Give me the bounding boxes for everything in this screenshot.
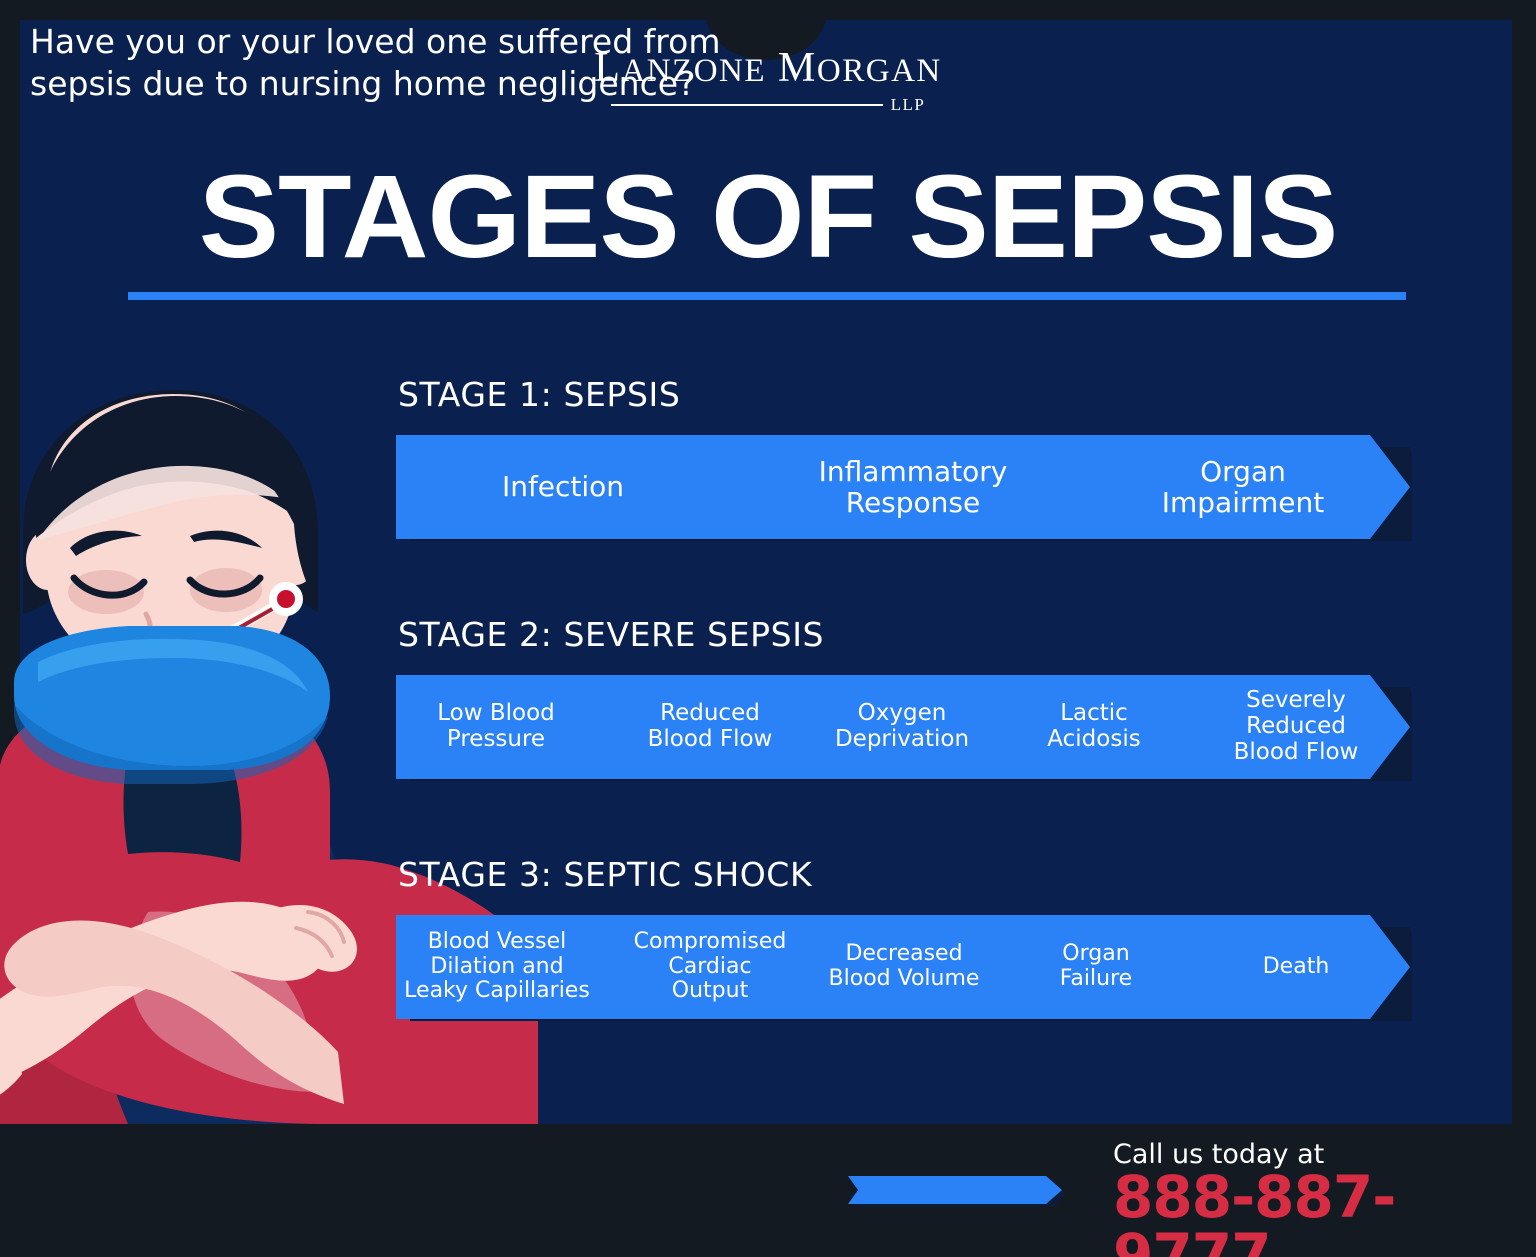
stage-3-block: STAGE 3: SEPTIC SHOCK — [396, 858, 1412, 1021]
stage-2-heading: STAGE 2: SEVERE SEPSIS — [398, 618, 1412, 651]
footer-question-line-1: Have you or your loved one suffered from — [30, 21, 820, 63]
brand-suffix: LLP — [891, 96, 926, 113]
stage-3-flow: Blood Vessel Dilation and Leaky Capillar… — [396, 913, 1412, 1021]
title-underline-bar — [128, 292, 1406, 300]
stage-2-block: STAGE 2: SEVERE SEPSIS — [396, 618, 1412, 781]
footer-arrow-icon — [848, 1174, 1064, 1206]
brand-name-organ: ORGAN — [817, 53, 942, 89]
footer-question-line-2: sepsis due to nursing home negligence? — [30, 63, 820, 105]
footer-question: Have you or your loved one suffered from… — [30, 21, 820, 105]
stage-3-heading: STAGE 3: SEPTIC SHOCK — [398, 858, 1412, 891]
stage-1-block: STAGE 1: SEPSIS Infection — [396, 378, 1412, 541]
stage-1-flow: Infection Inflammatory Response Organ Im… — [396, 433, 1412, 541]
stage-2-flow: Low Blood Pressure Reduced Blood Flow Ox… — [396, 673, 1412, 781]
stage-1-heading: STAGE 1: SEPSIS — [398, 378, 1412, 411]
phone-number[interactable]: 888-887-9777 — [1113, 1168, 1536, 1257]
infographic-poster: LANZONE MORGAN LLP STAGES OF SEPSIS — [0, 0, 1536, 1257]
page-title: STAGES OF SEPSIS — [0, 158, 1536, 276]
